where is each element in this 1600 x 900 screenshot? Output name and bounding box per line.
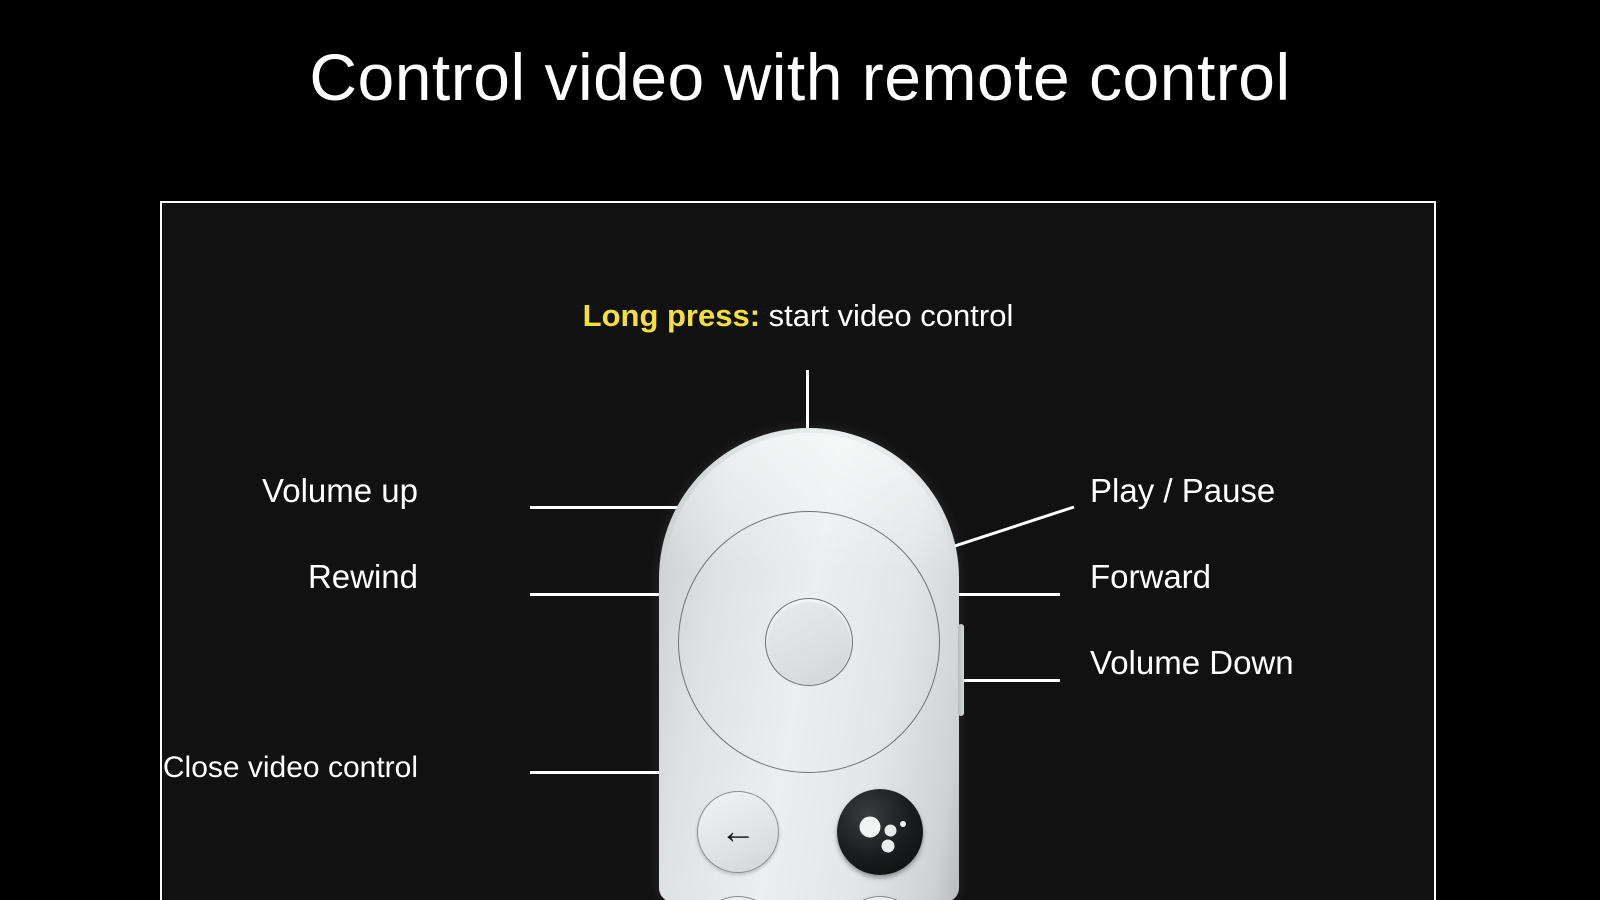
back-button[interactable]: ← xyxy=(697,791,779,873)
remote-side-button[interactable] xyxy=(958,624,964,716)
assistant-button[interactable] xyxy=(837,789,923,875)
assistant-dots-icon xyxy=(837,789,923,875)
label-play-pause: Play / Pause xyxy=(1090,474,1275,507)
long-press-description: start video control xyxy=(760,298,1013,333)
diagram-panel: Long press: start video control Volume u… xyxy=(160,201,1436,900)
long-press-key-label: Long press: xyxy=(583,298,760,333)
label-forward: Forward xyxy=(1090,560,1211,593)
label-close-video-control: Close video control xyxy=(163,753,418,783)
label-rewind: Rewind xyxy=(308,560,418,593)
screenshot-root: Control video with remote control Long p… xyxy=(0,0,1600,900)
label-volume-up: Volume up xyxy=(262,474,418,507)
label-volume-down: Volume Down xyxy=(1090,646,1294,679)
dpad-select-button[interactable] xyxy=(765,598,853,686)
remote-control-illustration: ← ⌂ ☰ xyxy=(659,428,959,900)
back-arrow-icon: ← xyxy=(720,813,756,849)
page-title: Control video with remote control xyxy=(0,44,1600,110)
long-press-caption: Long press: start video control xyxy=(162,298,1434,334)
